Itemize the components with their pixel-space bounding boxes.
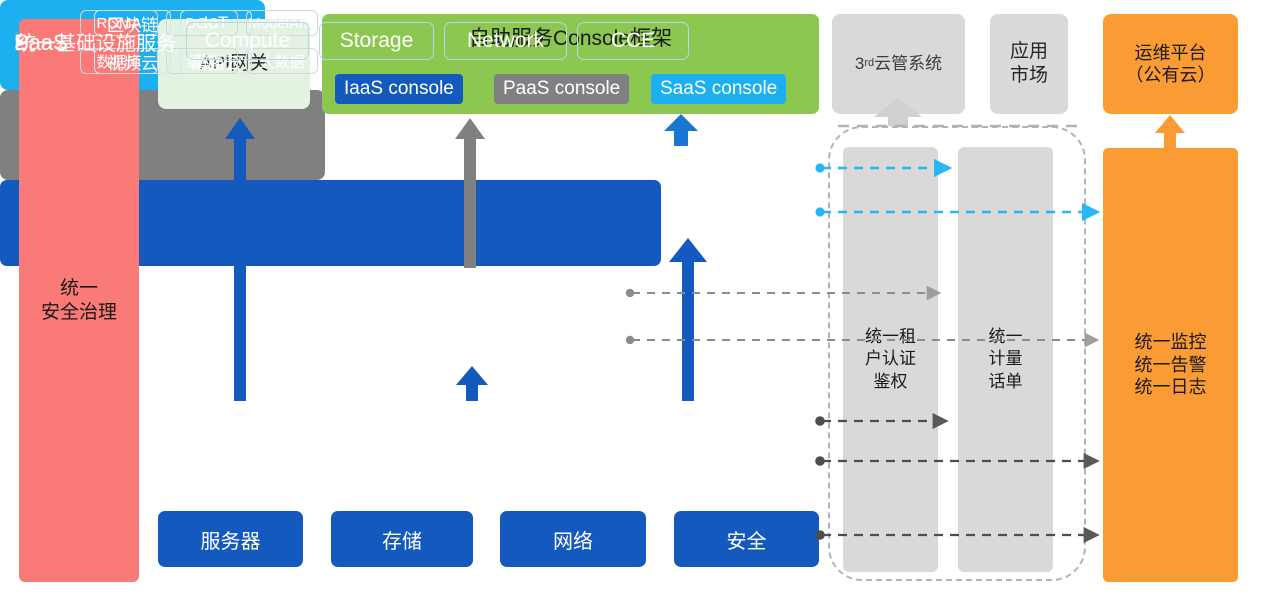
line-saas-to-ops-column [815, 207, 1096, 216]
line-saas-to-metering [815, 163, 948, 172]
connector-wires [0, 0, 1265, 605]
arrow-paas-to-console [455, 118, 485, 268]
arrow-infra-to-paas [456, 366, 488, 401]
line-paas-to-tenant-auth [626, 289, 938, 297]
arrow-shared-to-third-party [838, 98, 1078, 126]
arrow-infra-to-saas [669, 238, 707, 401]
line-infra-to-tenant-auth [815, 416, 945, 426]
line-paas-to-ops-column [626, 336, 1096, 344]
arrow-saas-to-console [664, 114, 698, 146]
arrow-ops-column-to-platform [1155, 115, 1185, 148]
line-hardware-to-ops-column [815, 530, 1096, 540]
arrow-infra-to-gateway [225, 118, 255, 401]
architecture-diagram: 统一 安全治理 API网关 自助服务Console框架 IaaS console… [0, 0, 1265, 605]
line-infra-to-ops-column [815, 456, 1096, 466]
